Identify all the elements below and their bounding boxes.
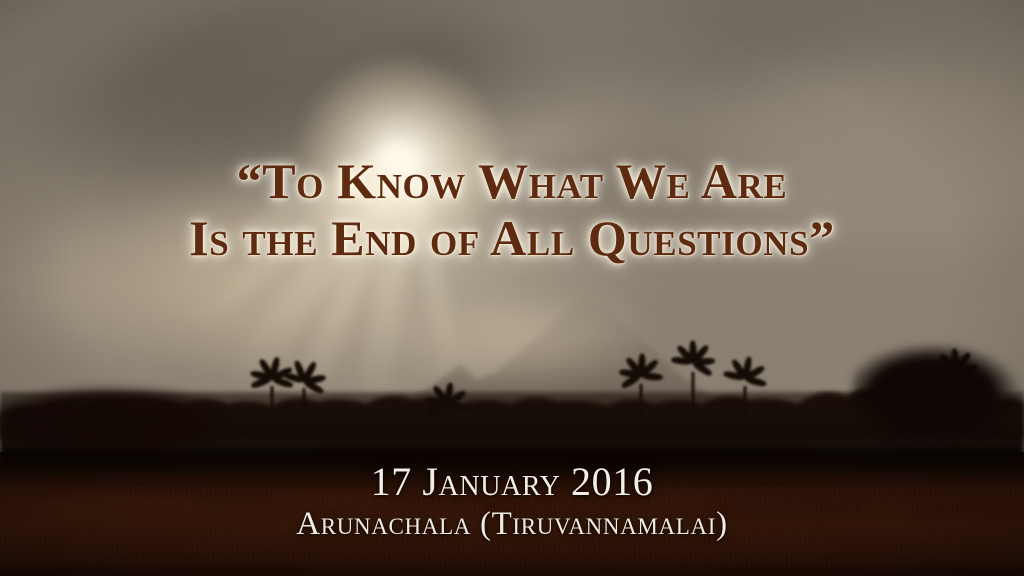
caption-place: Arunachala (Tiruvannamalai) bbox=[0, 508, 1024, 541]
tree-cluster-left bbox=[0, 382, 250, 462]
palm-tree bbox=[616, 358, 666, 444]
palm-tree bbox=[424, 388, 470, 444]
caption-date: 17 January 2016 bbox=[0, 462, 1024, 502]
quote-line-2: Is the End of All Questions” bbox=[0, 213, 1024, 263]
quote-title: “To Know What We Are Is the End of All Q… bbox=[0, 156, 1024, 263]
palm-tree bbox=[722, 362, 768, 444]
palm-tree bbox=[666, 344, 720, 444]
video-title-card-frame: “To Know What We Are Is the End of All Q… bbox=[0, 0, 1024, 576]
quote-line-1: “To Know What We Are bbox=[0, 156, 1024, 206]
caption: 17 January 2016 Arunachala (Tiruvannamal… bbox=[0, 462, 1024, 541]
palm-tree bbox=[284, 366, 324, 430]
tree-cluster-right bbox=[852, 340, 1024, 450]
